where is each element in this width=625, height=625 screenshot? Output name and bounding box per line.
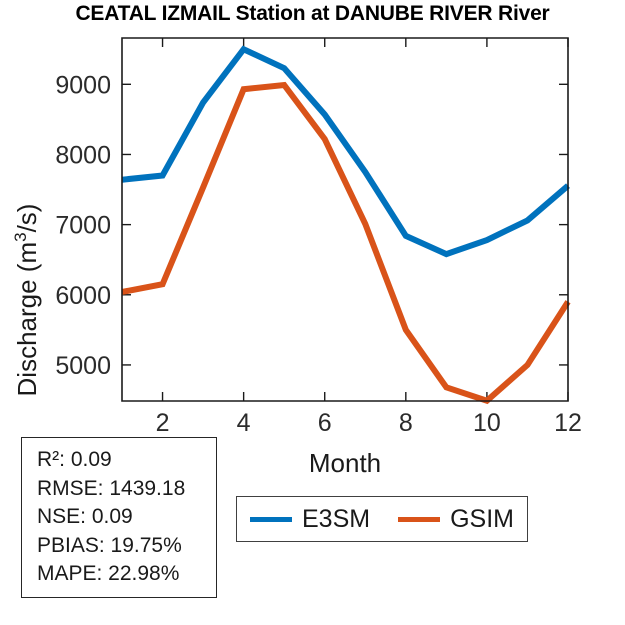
x-tick-label: 8 — [399, 409, 413, 437]
legend-entry-gsim[interactable]: GSIM — [398, 505, 514, 534]
y-axis-title-text: Discharge (m3/s) — [11, 204, 42, 397]
stat-nse: NSE: 0.09 — [37, 503, 216, 532]
legend-label-e3sm: E3SM — [302, 505, 370, 534]
data-series-group — [122, 49, 568, 400]
stat-r2: R²: 0.09 — [37, 446, 216, 475]
x-tick-label: 10 — [473, 409, 501, 437]
y-tick-label: 6000 — [55, 282, 111, 310]
legend-entry-e3sm[interactable]: E3SM — [250, 505, 370, 534]
statistics-box: R²: 0.09 RMSE: 1439.18 NSE: 0.09 PBIAS: … — [21, 437, 217, 598]
legend-swatch-e3sm-icon — [250, 517, 292, 522]
x-tick-label: 2 — [156, 409, 170, 437]
x-tick-label: 4 — [237, 409, 251, 437]
stat-pbias: PBIAS: 19.75% — [37, 532, 216, 561]
y-tick-label: 7000 — [55, 212, 111, 240]
x-tick-label: 12 — [554, 409, 582, 437]
x-axis-title-text: Month — [309, 448, 381, 478]
stat-mape: MAPE: 22.98% — [37, 560, 216, 589]
y-tick-label: 9000 — [55, 71, 111, 99]
figure-container: CEATAL IZMAIL Station at DANUBE RIVER Ri… — [0, 0, 625, 625]
x-tick-label: 6 — [318, 409, 332, 437]
stat-rmse: RMSE: 1439.18 — [37, 475, 216, 504]
y-axis-title: Discharge (m3/s) — [11, 204, 42, 397]
y-tick-label: 5000 — [55, 352, 111, 380]
legend-swatch-gsim-icon — [398, 517, 440, 522]
legend-label-gsim: GSIM — [450, 505, 514, 534]
y-tick-label: 8000 — [55, 141, 111, 169]
chart-legend: E3SM GSIM — [236, 496, 528, 542]
